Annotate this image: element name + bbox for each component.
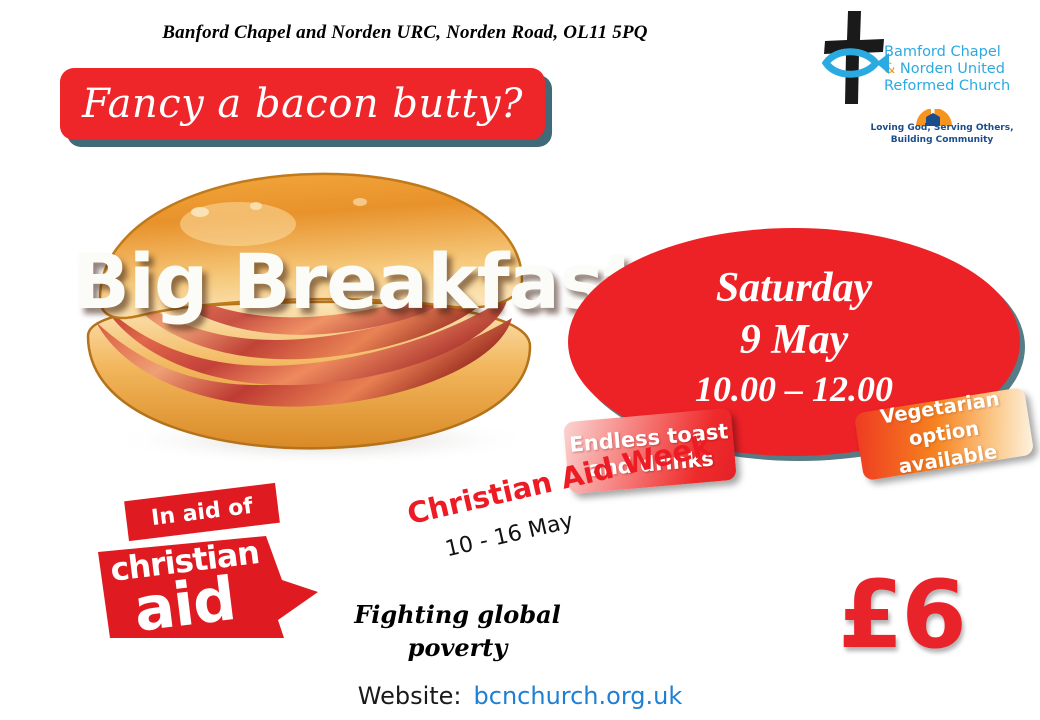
- hero-title: Big Breakfast: [72, 238, 542, 326]
- logo-tagline-1: Loving God, Serving Others,: [870, 123, 1013, 133]
- logo-tagline-2: Building Community: [891, 135, 994, 145]
- website-label: Website:: [358, 682, 462, 710]
- logo-church-name: Bamford Chapel & Norden United Reformed …: [884, 44, 1036, 95]
- logo-line-1: Bamford Chapel: [884, 44, 1001, 60]
- christian-aid-logo: christian aid: [96, 534, 324, 642]
- website-line: Website:bcnchurch.org.uk: [0, 682, 1040, 710]
- christian-aid-line-2: aid: [130, 564, 239, 646]
- charity-slogan-line-1: Fighting global: [354, 600, 561, 629]
- headline-text: Fancy a bacon butty?: [82, 81, 523, 127]
- price-amount: £6: [838, 566, 965, 666]
- event-date: 9 May: [568, 314, 1020, 366]
- charity-slogan-line-2: poverty: [408, 633, 508, 662]
- in-aid-of-text: In aid of: [150, 493, 254, 530]
- charity-slogan: Fighting global poverty: [330, 598, 585, 664]
- logo-line-3: Reformed Church: [884, 78, 1010, 94]
- venue-address: Banford Chapel and Norden URC, Norden Ro…: [0, 22, 810, 44]
- church-logo: Bamford Chapel & Norden United Reformed …: [812, 4, 1038, 150]
- event-details: Saturday 9 May 10.00 – 12.00: [568, 262, 1020, 412]
- in-aid-of-banner: In aid of: [124, 483, 280, 541]
- poster-canvas: Banford Chapel and Norden URC, Norden Ro…: [0, 0, 1040, 720]
- logo-line-2: Norden United: [895, 61, 1005, 77]
- headline-banner: Fancy a bacon butty?: [60, 68, 545, 140]
- event-day: Saturday: [568, 262, 1020, 314]
- fish-icon: [820, 8, 890, 108]
- website-link[interactable]: bcnchurch.org.uk: [474, 682, 683, 710]
- christian-aid-wordmark: christian aid: [96, 534, 324, 642]
- logo-tagline: Loving God, Serving Others, Building Com…: [862, 122, 1022, 146]
